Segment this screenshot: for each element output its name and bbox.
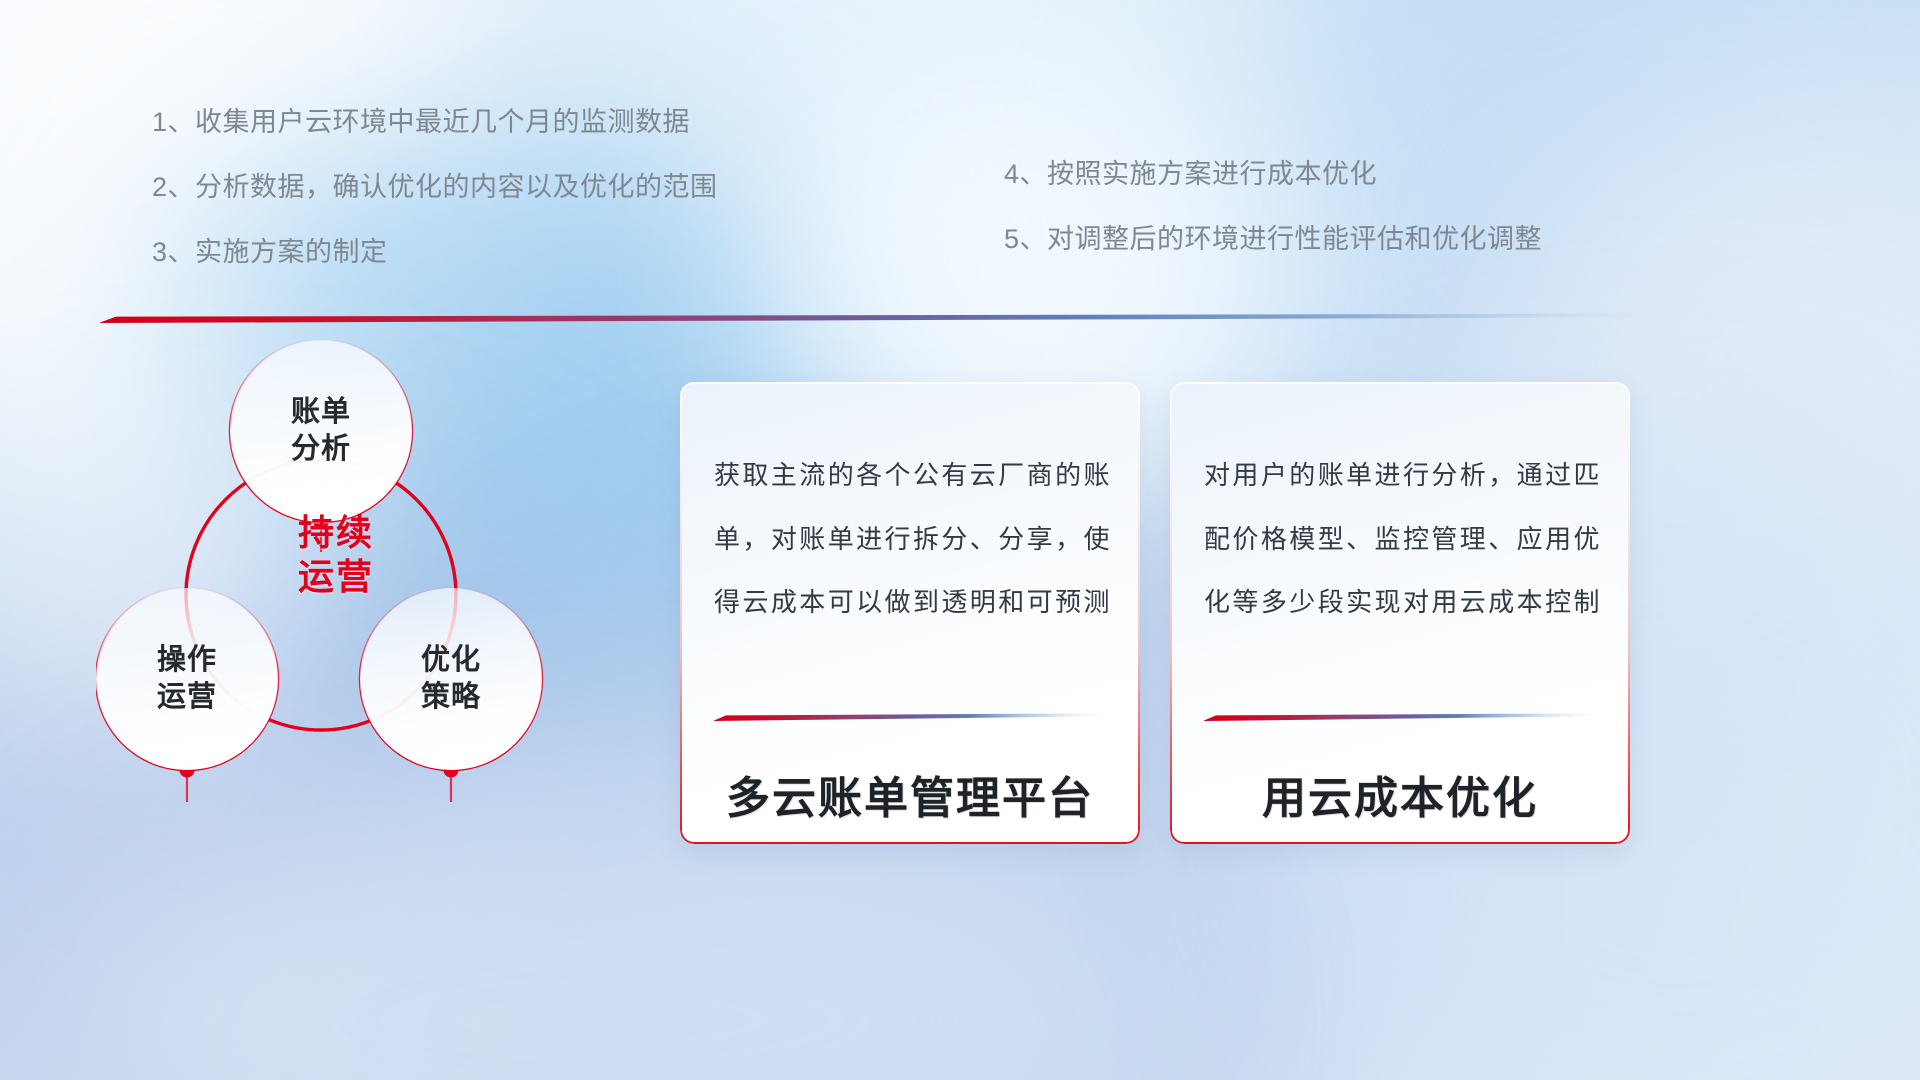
bubble-label-line1: 操作 (157, 642, 217, 679)
bubble-label-line1: 优化 (421, 642, 481, 679)
card-description: 获取主流的各个公有云厂商的账单，对账单进行拆分、分享，使得云成本可以做到透明和可… (714, 444, 1110, 635)
slide-canvas: 1、收集用户云环境中最近几个月的监测数据 2、分析数据，确认优化的内容以及优化的… (0, 0, 1920, 1080)
bubble-label-line2: 策略 (421, 679, 481, 716)
feature-card-cost-optimization[interactable]: 对用户的账单进行分析，通过匹配价格模型、监控管理、应用优化等多少段实现对用云成本… (1170, 382, 1630, 844)
steps-list-right: 4、按照实施方案进行成本优化 5、对调整后的环境进行性能评估和优化调整 (1004, 152, 1542, 256)
bubble-label-line1: 账单 (291, 394, 351, 431)
center-label-line1: 持续 (298, 511, 374, 555)
list-item: 5、对调整后的环境进行性能评估和优化调整 (1004, 217, 1542, 256)
bubble-label-line2: 分析 (291, 431, 351, 468)
card-title: 多云账单管理平台 (680, 762, 1140, 826)
card-divider (714, 712, 1112, 721)
section-divider (100, 312, 1690, 323)
list-item: 1、收集用户云环境中最近几个月的监测数据 (152, 100, 718, 139)
center-label-line2: 运营 (298, 555, 374, 599)
card-description: 对用户的账单进行分析，通过匹配价格模型、监控管理、应用优化等多少段实现对用云成本… (1204, 444, 1600, 635)
continuous-operation-diagram: 账单 分析 操作 运营 优化 策略 持续 运营 (96, 340, 656, 960)
bubble-label-line2: 运营 (157, 679, 217, 716)
card-divider (1204, 712, 1602, 721)
venn-center-label: 持续 运营 (246, 490, 426, 620)
list-item: 3、实施方案的制定 (152, 230, 718, 269)
list-item: 2、分析数据，确认优化的内容以及优化的范围 (152, 165, 718, 204)
steps-list-left: 1、收集用户云环境中最近几个月的监测数据 2、分析数据，确认优化的内容以及优化的… (152, 100, 718, 269)
card-title: 用云成本优化 (1170, 762, 1630, 826)
feature-card-multicloud-billing[interactable]: 获取主流的各个公有云厂商的账单，对账单进行拆分、分享，使得云成本可以做到透明和可… (680, 382, 1140, 844)
list-item: 4、按照实施方案进行成本优化 (1004, 152, 1542, 191)
